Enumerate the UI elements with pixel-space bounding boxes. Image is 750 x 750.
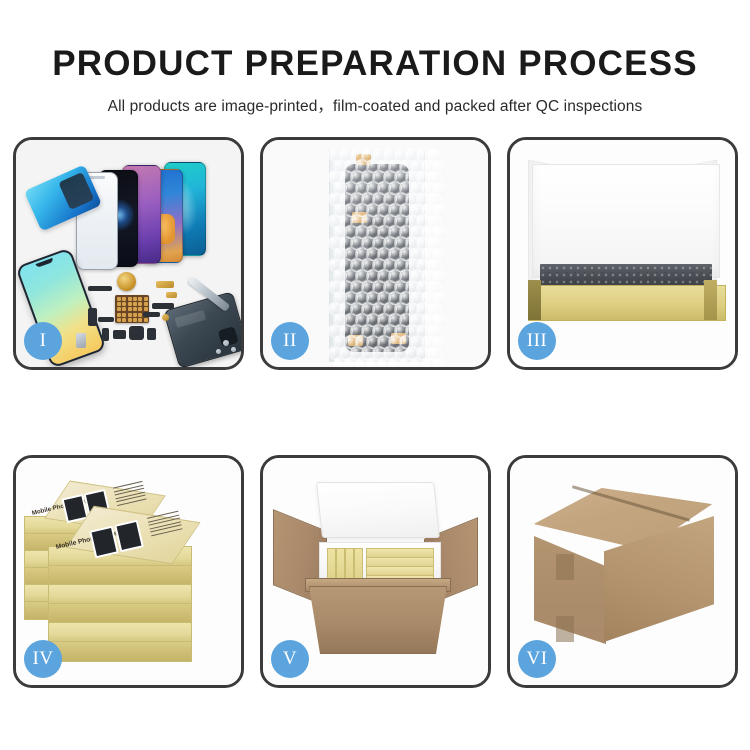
- small-component: [147, 328, 156, 340]
- retail-box-slab: [48, 584, 192, 605]
- tape-piece: [356, 154, 371, 165]
- step-badge-6: VI: [518, 640, 556, 678]
- small-component: [166, 292, 177, 298]
- screw-part: [223, 340, 229, 346]
- white-box-lid: [532, 164, 720, 278]
- chip-board-part: [115, 295, 149, 323]
- yellow-box-left-edge: [528, 280, 541, 320]
- bubble-wrap-bag: [329, 150, 425, 362]
- foam-lid: [316, 482, 440, 538]
- small-component: [143, 312, 160, 317]
- carton-tape-mark: [556, 616, 574, 642]
- screw-part: [231, 347, 236, 352]
- step-badge-2: II: [271, 322, 309, 360]
- small-component: [152, 303, 174, 309]
- small-component: [76, 333, 86, 348]
- small-component: [162, 314, 169, 321]
- step-badge-1: I: [24, 322, 62, 360]
- retail-box-slab: [48, 565, 192, 586]
- speaker-coil-part: [117, 272, 136, 291]
- step-badge-4: IV: [24, 640, 62, 678]
- small-component: [88, 308, 97, 326]
- small-component: [113, 330, 126, 339]
- yellow-box-right-edge: [704, 280, 717, 320]
- small-component: [156, 281, 174, 288]
- retail-box-slab: [48, 641, 192, 662]
- step-panel-5[interactable]: V: [260, 455, 491, 688]
- step-panel-2[interactable]: II: [260, 137, 491, 370]
- flex-cable: [368, 216, 386, 346]
- page-subtitle: All products are image-printed，film-coat…: [0, 84, 750, 116]
- wrapped-screen-part: [345, 164, 409, 352]
- phone-back-housing: [163, 291, 244, 369]
- screw-part: [216, 349, 221, 354]
- foam-insert: [540, 264, 712, 286]
- step-panel-1[interactable]: I: [13, 137, 244, 370]
- process-steps-grid: I II: [13, 137, 737, 688]
- step-panel-6[interactable]: VI: [507, 455, 738, 688]
- retail-box-slab: [48, 603, 192, 624]
- tape-piece: [391, 333, 406, 344]
- small-component: [102, 328, 109, 341]
- small-component: [88, 286, 112, 291]
- tape-piece: [352, 212, 367, 223]
- step-panel-3[interactable]: III: [507, 137, 738, 370]
- yellow-box-front: [528, 285, 726, 321]
- carton-body: [309, 586, 447, 654]
- step-panel-4[interactable]: Mobile Phone Spare Parts Mobile P: [13, 455, 244, 688]
- small-component: [129, 326, 144, 340]
- step-badge-5: V: [271, 640, 309, 678]
- header: PRODUCT PREPARATION PROCESS All products…: [0, 0, 750, 116]
- small-component: [98, 317, 114, 322]
- retail-box-slab: [48, 622, 192, 643]
- step-badge-3: III: [518, 322, 556, 360]
- tape-piece: [348, 335, 363, 346]
- page-title: PRODUCT PREPARATION PROCESS: [0, 0, 750, 84]
- product-preparation-infographic: PRODUCT PREPARATION PROCESS All products…: [0, 0, 750, 750]
- carton-tape-mark: [556, 554, 574, 580]
